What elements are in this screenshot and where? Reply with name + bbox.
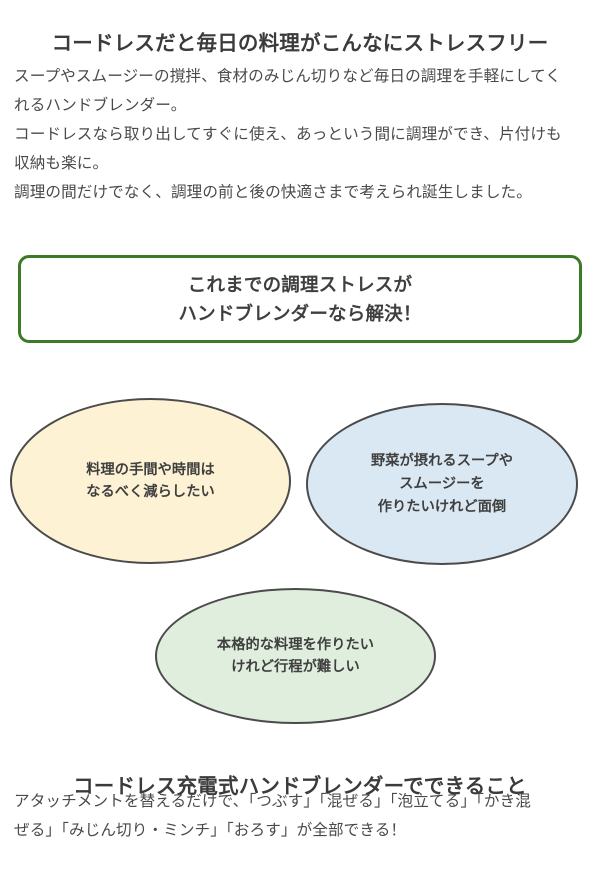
- pain-point-line: 作りたいけれど面倒: [371, 496, 513, 519]
- intro-paragraph: スープやスムージーの撹拌、食材のみじん切りなど毎日の調理を手軽にしてく れるハン…: [14, 62, 586, 207]
- intro-line: 収納も楽に。: [14, 149, 586, 178]
- solution-callout-line: ハンドブレンダーなら解決！: [178, 299, 421, 328]
- solution-callout-line: これまでの調理ストレスが: [178, 270, 421, 299]
- pain-point-line: 本格的な料理を作りたい: [217, 634, 374, 656]
- section-heading-cordless-stress-free: コードレスだと毎日の料理がこんなにストレスフリー: [0, 31, 600, 57]
- pain-point-ellipse-soup: 野菜が摂れるスープや スムージーを 作りたいけれど面倒: [306, 403, 578, 565]
- solution-callout-text: これまでの調理ストレスが ハンドブレンダーなら解決！: [178, 270, 421, 328]
- pain-point-line: 料理の手間や時間は: [86, 459, 215, 481]
- pain-point-line: 野菜が摂れるスープや: [371, 450, 513, 473]
- pain-point-ellipse-recipe: 本格的な料理を作りたい けれど行程が難しい: [155, 588, 436, 724]
- intro-line: れるハンドブレンダー。: [14, 91, 586, 120]
- intro-line: 調理の間だけでなく、調理の前と後の快適さまで考えられ誕生しました。: [14, 178, 586, 207]
- pain-point-line: スムージーを: [371, 473, 513, 496]
- pain-point-text-soup: 野菜が摂れるスープや スムージーを 作りたいけれど面倒: [365, 450, 519, 519]
- intro-line: コードレスなら取り出してすぐに使え、あっという間に調理ができ、片付けも: [14, 120, 586, 149]
- intro-line: スープやスムージーの撹拌、食材のみじん切りなど毎日の調理を手軽にしてく: [14, 62, 586, 91]
- pain-point-line: なるべく減らしたい: [86, 481, 215, 503]
- pain-point-ellipse-time: 料理の手間や時間は なるべく減らしたい: [10, 398, 291, 564]
- pain-point-text-time: 料理の手間や時間は なるべく減らしたい: [80, 459, 221, 503]
- solution-callout-box: これまでの調理ストレスが ハンドブレンダーなら解決！: [18, 255, 582, 343]
- pain-point-text-recipe: 本格的な料理を作りたい けれど行程が難しい: [211, 634, 380, 678]
- product-description-page: コードレスだと毎日の料理がこんなにストレスフリー スープやスムージーの撹拌、食材…: [0, 0, 600, 880]
- pain-point-line: けれど行程が難しい: [217, 656, 374, 678]
- features-line: ぜる」「みじん切り・ミンチ」「おろす」が全部できる！: [14, 816, 588, 845]
- features-paragraph: アタッチメントを替えるだけで、「つぶす」「混ぜる」「泡立てる」「かき混 ぜる」「…: [14, 787, 588, 845]
- features-line: アタッチメントを替えるだけで、「つぶす」「混ぜる」「泡立てる」「かき混: [14, 787, 588, 816]
